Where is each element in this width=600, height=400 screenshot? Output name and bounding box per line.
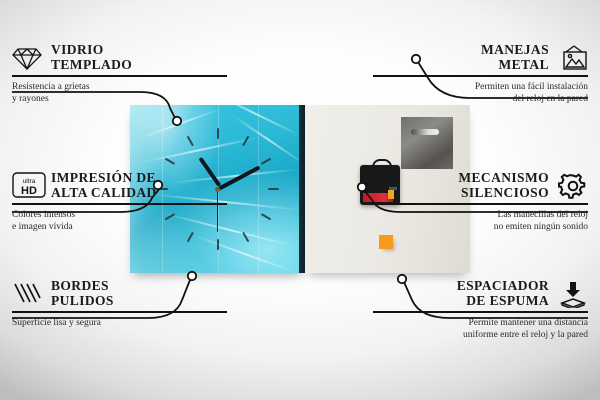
callout-desc-line2: no emiten ningún sonido xyxy=(494,222,588,232)
foam-spacer-arrow-icon xyxy=(558,280,588,306)
callout-rule xyxy=(373,311,588,313)
ultra-hd-top-text: ultra xyxy=(23,178,36,185)
callout-title-line2: DE ESPUMA xyxy=(466,293,549,308)
callout-title-line1: MANEJAS xyxy=(481,42,549,57)
clock-tick xyxy=(260,213,271,220)
callout-desc-line2: uniforme entre el reloj y la pared xyxy=(463,330,588,340)
clock-tick xyxy=(164,158,175,165)
hanger-slot xyxy=(411,129,439,135)
metal-hanger-plate xyxy=(401,117,453,169)
callout-rule xyxy=(12,203,227,205)
callout-title-line1: MECANISMO xyxy=(458,170,549,185)
callout-rule xyxy=(12,75,227,77)
callout-espaciador-espuma: ESPACIADOR DE ESPUMA Permite mantener un… xyxy=(373,278,588,341)
foam-spacer xyxy=(379,235,393,249)
callout-title-line2: SILENCIOSO xyxy=(461,185,549,200)
ultra-hd-main-text: HD xyxy=(21,185,37,197)
callout-title-line2: TEMPLADO xyxy=(51,57,132,72)
callout-title-line1: BORDES xyxy=(51,278,109,293)
clock-tick xyxy=(186,136,193,147)
ultra-hd-icon: ultra HD xyxy=(12,172,42,198)
callout-mecanismo-silencioso: MECANISMO SILENCIOSO Las manecillas del … xyxy=(373,170,588,233)
polished-edges-icon xyxy=(12,280,42,306)
callout-bordes-pulidos: BORDES PULIDOS Superficie lisa y segura xyxy=(12,278,227,329)
callout-desc-line1: Permiten una fácil instalación xyxy=(475,82,588,92)
callout-desc-line2: e imagen vívida xyxy=(12,222,73,232)
clock-tick xyxy=(268,188,279,190)
clock-tick xyxy=(186,232,193,243)
clock-tick xyxy=(217,128,219,139)
callout-desc-line2: y rayones xyxy=(12,94,49,104)
picture-frame-hook-icon xyxy=(558,44,588,70)
callout-desc-line1: Las manecillas del reloj xyxy=(498,210,588,220)
callout-rule xyxy=(373,203,588,205)
callout-vidrio-templado: VIDRIO TEMPLADO Resistencia a grietas y … xyxy=(12,42,227,105)
callout-desc-line2: del reloj en la pared xyxy=(513,94,588,104)
callout-rule xyxy=(12,311,227,313)
clock-tick xyxy=(217,239,219,250)
callout-rule xyxy=(373,75,588,77)
diamond-icon xyxy=(12,44,42,70)
callout-title-line1: VIDRIO xyxy=(51,42,104,57)
callout-desc-line1: Resistencia a grietas xyxy=(12,82,90,92)
callout-title-line2: PULIDOS xyxy=(51,293,114,308)
callout-desc-line1: Superficie lisa y segura xyxy=(12,318,101,328)
callout-title-line2: ALTA CALIDAD xyxy=(51,185,157,200)
callout-manejas-metal: MANEJAS METAL Permiten una fácil instala… xyxy=(373,42,588,105)
callout-title-line2: METAL xyxy=(498,57,549,72)
callout-desc-line1: Colores intensos xyxy=(12,210,75,220)
clock-tick xyxy=(260,158,271,165)
callout-desc-line1: Permite mantener una distancia xyxy=(469,318,589,328)
gear-icon xyxy=(558,172,588,198)
infographic-canvas: VIDRIO TEMPLADO Resistencia a grietas y … xyxy=(0,0,600,400)
callout-title-line1: ESPACIADOR xyxy=(457,278,549,293)
callout-title-line1: IMPRESIÓN DE xyxy=(51,170,156,185)
callout-impresion-alta-calidad: ultra HD IMPRESIÓN DE ALTA CALIDAD Color… xyxy=(12,170,227,233)
